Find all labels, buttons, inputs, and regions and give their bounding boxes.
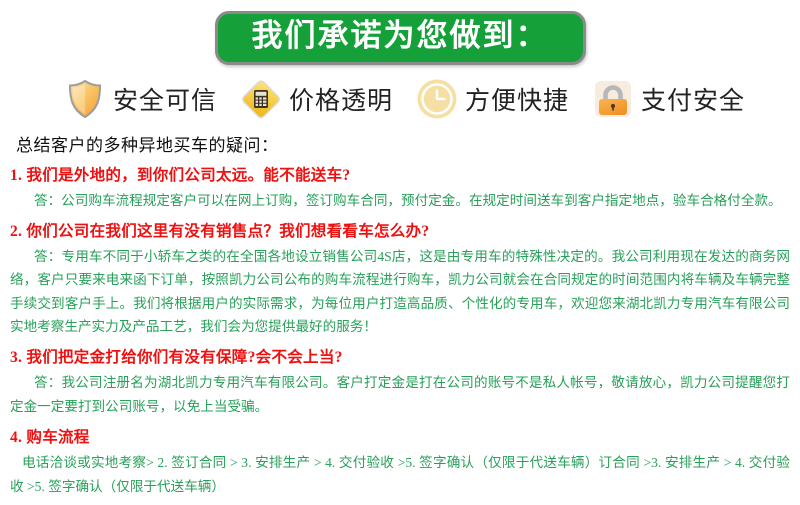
process-steps: 电话洽谈或实地考察> 2. 签订合同 > 3. 安排生产 > 4. 交付验收 >… xyxy=(10,451,790,498)
feature-item-security: 安全可信 xyxy=(63,77,217,121)
feature-item-payment: 支付安全 xyxy=(591,77,745,121)
calculator-icon-svg xyxy=(239,77,283,121)
faq-item: 3. 我们把定金打给你们有没有保障?会不会上当? 答：我公司注册名为湖北凯力专用… xyxy=(8,345,792,418)
promise-banner: 我们承诺为您做到： xyxy=(215,11,586,65)
page-title: 总结客户的多种异地买车的疑问： xyxy=(16,131,792,156)
lock-icon-svg xyxy=(591,77,635,121)
process-title: 4. 购车流程 xyxy=(10,425,792,447)
feature-label-security: 安全可信 xyxy=(113,81,217,117)
feature-label-payment: 支付安全 xyxy=(641,81,745,117)
calculator-icon xyxy=(239,77,283,121)
shield-icon xyxy=(63,77,107,121)
faq-item: 1. 我们是外地的，到你们公司太远。能不能送车? 答：公司购车流程规定客户可以在… xyxy=(8,163,792,212)
shield-icon-svg xyxy=(63,77,107,121)
clock-icon-svg xyxy=(415,77,459,121)
feature-row: 安全可信 xyxy=(0,77,800,121)
banner-row: 我们承诺为您做到： xyxy=(0,0,800,65)
feature-label-convenient: 方便快捷 xyxy=(465,81,569,117)
lock-icon xyxy=(591,77,635,121)
faq-question: 3. 我们把定金打给你们有没有保障?会不会上当? xyxy=(10,345,792,367)
faq-content: 总结客户的多种异地买车的疑问： 1. 我们是外地的，到你们公司太远。能不能送车?… xyxy=(0,121,800,498)
faq-question: 1. 我们是外地的，到你们公司太远。能不能送车? xyxy=(10,163,792,185)
purchase-process-section: 4. 购车流程 电话洽谈或实地考察> 2. 签订合同 > 3. 安排生产 > 4… xyxy=(8,425,792,498)
feature-item-convenient: 方便快捷 xyxy=(415,77,569,121)
feature-item-price: 价格透明 xyxy=(239,77,393,121)
faq-answer: 答：我公司注册名为湖北凯力专用汽车有限公司。客户打定金是打在公司的账号不是私人帐… xyxy=(10,371,790,418)
faq-item: 2. 你们公司在我们这里有没有销售点？我们想看看车怎么办? 答：专用车不同于小轿… xyxy=(8,219,792,339)
faq-answer: 答：公司购车流程规定客户可以在网上订购，签订购车合同，预付定金。在规定时间送车到… xyxy=(10,189,790,212)
faq-question: 2. 你们公司在我们这里有没有销售点？我们想看看车怎么办? xyxy=(10,219,792,241)
feature-label-price: 价格透明 xyxy=(289,81,393,117)
clock-icon xyxy=(415,77,459,121)
faq-answer: 答：专用车不同于小轿车之类的在全国各地设立销售公司4S店，这是由专用车的特殊性决… xyxy=(10,245,790,339)
